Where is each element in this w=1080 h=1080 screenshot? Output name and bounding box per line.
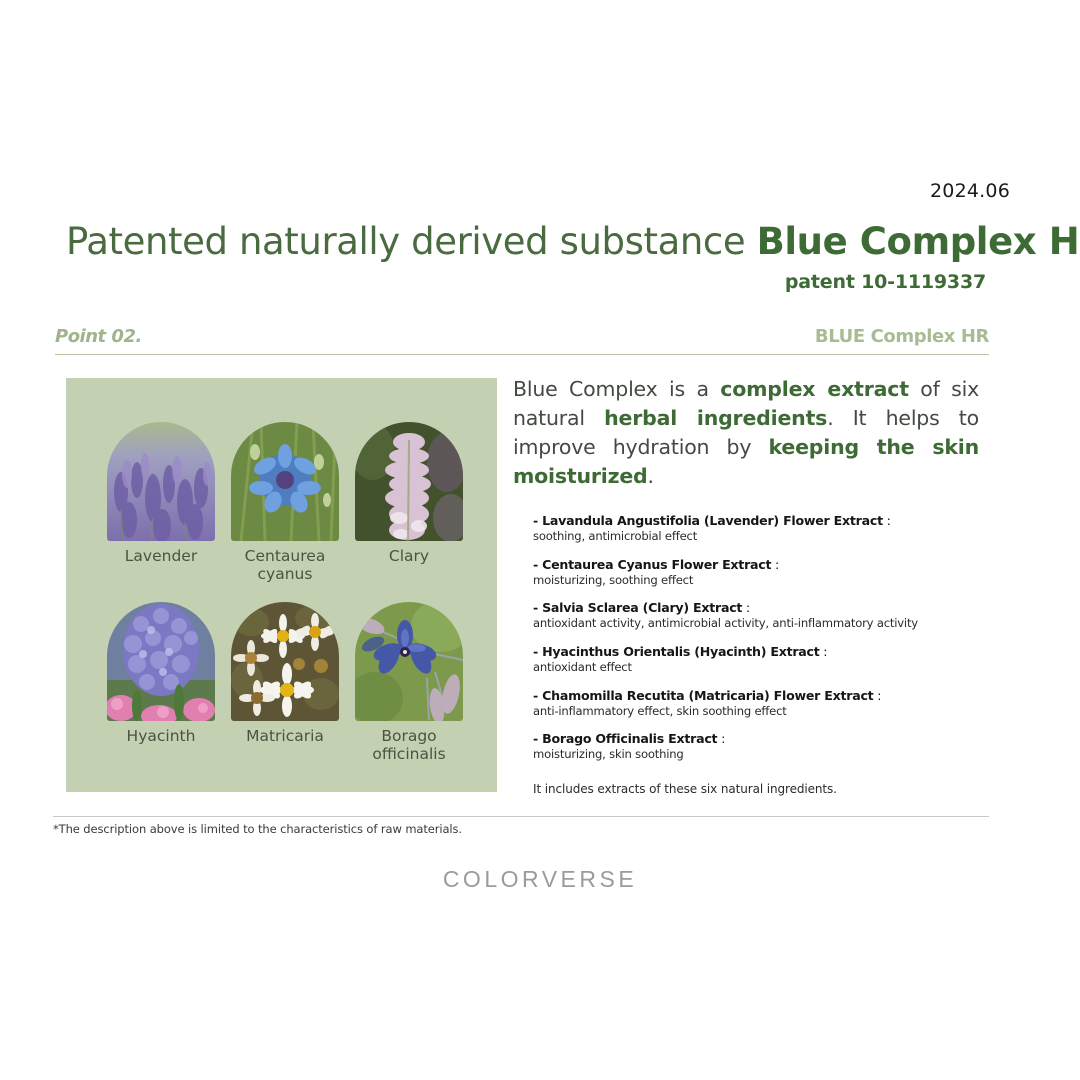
section-product-label: BLUE Complex HR bbox=[815, 326, 989, 347]
flower-gallery-panel: Lavender bbox=[66, 378, 497, 792]
brand-wordmark: COLORVERSE bbox=[0, 866, 1080, 893]
clary-photo bbox=[355, 422, 463, 541]
ingredient-effect: soothing, antimicrobial effect bbox=[533, 529, 985, 545]
ingredient-name: - Lavandula Angustifolia (Lavender) Flow… bbox=[533, 512, 985, 529]
intro-part-1: Blue Complex is a bbox=[513, 377, 720, 401]
ingredient-effect: antioxidant activity, antimicrobial acti… bbox=[533, 616, 985, 632]
flower-cell-borago: Borago officinalis bbox=[347, 602, 471, 764]
ingredient-colon: : bbox=[873, 688, 881, 703]
flower-cell-hyacinth: Hyacinth bbox=[99, 602, 223, 764]
ingredient-item: - Salvia Sclarea (Clary) Extract : antio… bbox=[533, 599, 985, 632]
flower-label: Lavender bbox=[125, 547, 197, 565]
footer-disclaimer: *The description above is limited to the… bbox=[53, 822, 462, 836]
lavender-photo bbox=[107, 422, 215, 541]
flower-cell-matricaria: Matricaria bbox=[223, 602, 347, 764]
intro-bold-1: complex extract bbox=[720, 377, 909, 401]
intro-paragraph: Blue Complex is a complex extract of six… bbox=[513, 375, 979, 491]
page-title-lead: Patented naturally derived substance bbox=[66, 220, 757, 263]
flower-cell-clary: Clary bbox=[347, 422, 471, 584]
flower-label: Hyacinth bbox=[127, 727, 196, 745]
ingredient-effect: moisturizing, skin soothing bbox=[533, 747, 985, 763]
section-header-bar: Point 02. BLUE Complex HR bbox=[55, 326, 989, 355]
ingredient-colon: : bbox=[717, 731, 725, 746]
ingredient-name-text: - Borago Officinalis Extract bbox=[533, 731, 717, 746]
flower-cell-lavender: Lavender bbox=[99, 422, 223, 584]
ingredient-name-text: - Centaurea Cyanus Flower Extract bbox=[533, 557, 771, 572]
ingredient-name-text: - Salvia Sclarea (Clary) Extract bbox=[533, 600, 742, 615]
ingredient-name-text: - Lavandula Angustifolia (Lavender) Flow… bbox=[533, 513, 883, 528]
ingredient-item: - Hyacinthus Orientalis (Hyacinth) Extra… bbox=[533, 643, 985, 676]
flower-label: Centaurea cyanus bbox=[245, 547, 326, 584]
ingredient-name-text: - Chamomilla Recutita (Matricaria) Flowe… bbox=[533, 688, 873, 703]
intro-bold-2: herbal ingredients bbox=[604, 406, 827, 430]
section-point-label: Point 02. bbox=[55, 326, 142, 347]
ingredient-effect: anti-inflammatory effect, skin soothing … bbox=[533, 704, 985, 720]
intro-part-4: . bbox=[648, 464, 654, 488]
ingredient-item: - Chamomilla Recutita (Matricaria) Flowe… bbox=[533, 687, 985, 720]
page-title-highlight: Blue Complex HR bbox=[757, 220, 1080, 263]
ingredient-item: - Centaurea Cyanus Flower Extract : mois… bbox=[533, 556, 985, 589]
flower-label: Clary bbox=[389, 547, 429, 565]
matricaria-photo bbox=[231, 602, 339, 721]
flower-label: Borago officinalis bbox=[372, 727, 445, 764]
flower-label: Matricaria bbox=[246, 727, 324, 745]
ingredient-name: - Borago Officinalis Extract : bbox=[533, 730, 985, 747]
ingredient-item: - Borago Officinalis Extract : moisturiz… bbox=[533, 730, 985, 763]
footer-divider bbox=[53, 816, 989, 817]
borago-officinalis-photo bbox=[355, 602, 463, 721]
ingredient-name: - Chamomilla Recutita (Matricaria) Flowe… bbox=[533, 687, 985, 704]
ingredients-summary-note: It includes extracts of these six natura… bbox=[533, 782, 985, 796]
ingredient-effect: antioxidant effect bbox=[533, 660, 985, 676]
ingredient-effect: moisturizing, soothing effect bbox=[533, 573, 985, 589]
centaurea-cyanus-photo bbox=[231, 422, 339, 541]
ingredient-colon: : bbox=[771, 557, 779, 572]
ingredient-name: - Centaurea Cyanus Flower Extract : bbox=[533, 556, 985, 573]
hyacinth-photo bbox=[107, 602, 215, 721]
flower-grid: Lavender bbox=[99, 422, 471, 763]
ingredient-colon: : bbox=[742, 600, 750, 615]
ingredient-colon: : bbox=[820, 644, 828, 659]
patent-number: patent 10-1119337 bbox=[785, 271, 986, 293]
ingredient-item: - Lavandula Angustifolia (Lavender) Flow… bbox=[533, 512, 985, 545]
ingredient-name: - Hyacinthus Orientalis (Hyacinth) Extra… bbox=[533, 643, 985, 660]
ingredient-name-text: - Hyacinthus Orientalis (Hyacinth) Extra… bbox=[533, 644, 820, 659]
flower-cell-centaurea: Centaurea cyanus bbox=[223, 422, 347, 584]
ingredient-name: - Salvia Sclarea (Clary) Extract : bbox=[533, 599, 985, 616]
page-title: Patented naturally derived substance Blu… bbox=[66, 222, 991, 263]
ingredient-colon: : bbox=[883, 513, 891, 528]
document-date: 2024.06 bbox=[930, 180, 1010, 202]
ingredients-list: - Lavandula Angustifolia (Lavender) Flow… bbox=[533, 512, 985, 796]
